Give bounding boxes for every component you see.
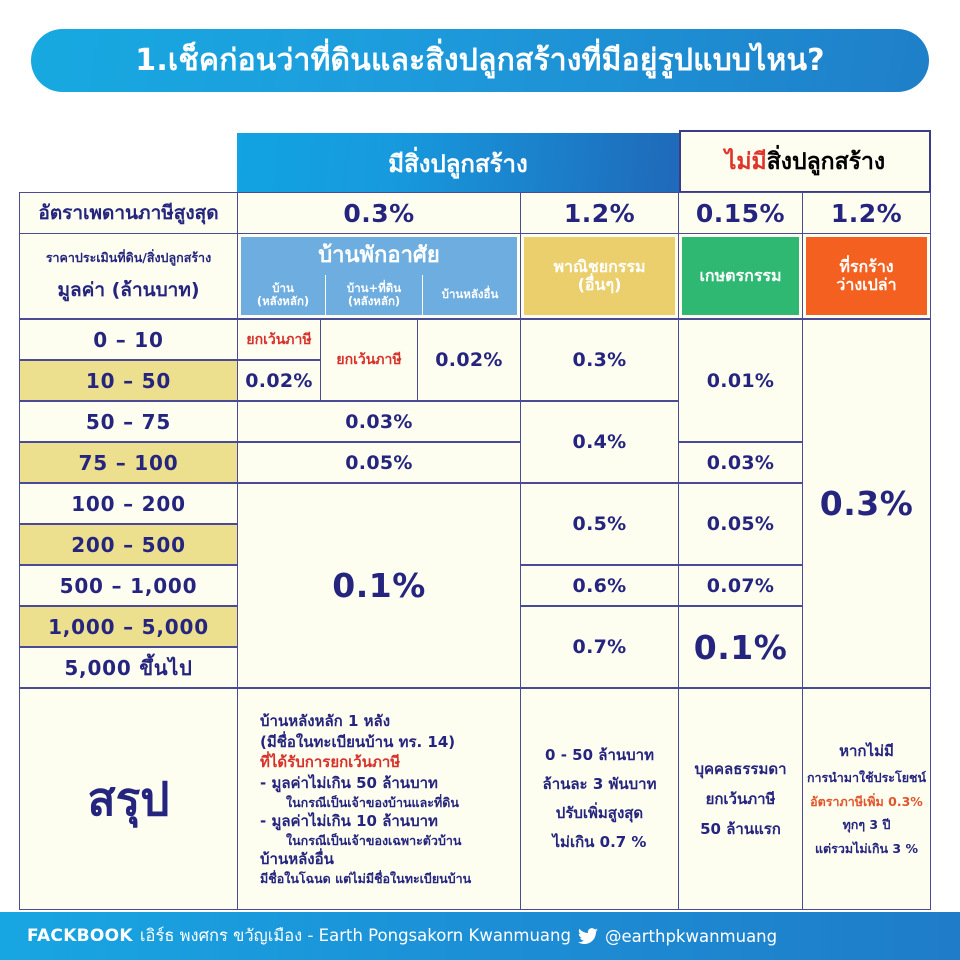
summary-res-line-0: บ้านหลังหลัก 1 หลัง (260, 711, 390, 732)
rate-residential-100-up: 0.1% (237, 483, 521, 688)
header-without-building-label: ไม่มีสิ่งปลูกสร้าง (725, 144, 885, 180)
residential-sub-house-main: บ้าน (หลังหลัก) (241, 275, 325, 315)
residential-header-cell: บ้านพักอาศัย บ้าน (หลังหลัก) บ้าน+ที่ดิน… (237, 233, 521, 319)
residential-sub-house-land-main: บ้าน+ที่ดิน (หลังหลัก) (325, 275, 422, 315)
summary-vacant-line-0: หากไม่มี (839, 737, 894, 766)
summary-residential-cell: บ้านหลังหลัก 1 หลัง (มีชื่อในทะเบียนบ้าน… (237, 688, 521, 910)
value-header-line1: ราคาประเมินที่ดิน/สิ่งปลูกสร้าง (46, 248, 211, 268)
rate-agriculture-0-75: 0.01% (678, 319, 803, 442)
value-header-cell: ราคาประเมินที่ดิน/สิ่งปลูกสร้าง มูลค่า (… (19, 233, 238, 319)
summary-res-line-3: - มูลค่าไม่เกิน 50 ล้านบาท (260, 773, 438, 794)
rate-commercial-0-50: 0.3% (520, 319, 679, 401)
header-with-building-label: มีสิ่งปลูกสร้าง (388, 144, 527, 183)
summary-res-line-8: มีชื่อในโฉนด แต่ไม่มีชื่อในทะเบียนบ้าน (260, 870, 471, 887)
twitter-bird-icon (578, 928, 598, 945)
summary-res-line-6: ในกรณีเป็นเจ้าของเฉพาะตัวบ้าน (260, 832, 461, 849)
summary-res-line-1: (มีชื่อในทะเบียนบ้าน ทร. 14) (260, 732, 455, 753)
rate-agriculture-75-100: 0.03% (678, 442, 803, 483)
summary-label: สรุป (88, 763, 170, 836)
ceiling-rate-vacant: 1.2% (802, 192, 931, 234)
range-row-7: 1,000 – 5,000 (19, 606, 238, 647)
header-with-building: มีสิ่งปลูกสร้าง (237, 133, 679, 193)
rate-commercial-1000-5000: 0.6% (520, 565, 679, 606)
summary-agri-line-1: ยกเว้นภาษี (706, 784, 776, 814)
author-name: เอิร์ธ พงศกร ขวัญเมือง - Earth Pongsakor… (140, 923, 571, 949)
vacant-header-label: ที่รกร้าง ว่างเปล่า (806, 237, 927, 315)
footer-credit-bar: FACKBOOK เอิร์ธ พงศกร ขวัญเมือง - Earth … (0, 912, 960, 960)
ceiling-rate-residential: 0.3% (237, 192, 521, 234)
summary-commercial-cell: 0 - 50 ล้านบาท ล้านละ 3 พันบาท ปรับเพิ่ม… (520, 688, 679, 910)
summary-agriculture-cell: บุคคลธรรมดา ยกเว้นภาษี 50 ล้านแรก (678, 688, 803, 910)
residential-sub-other-house: บ้านหลังอื่น (422, 275, 517, 315)
rate-vacant-all: 0.3% (802, 319, 931, 688)
summary-res-line-5: - มูลค่าไม่เกิน 10 ล้านบาท (260, 811, 438, 832)
commercial-header-label: พาณิชยกรรม (อื่นๆ) (524, 237, 675, 315)
ceiling-rate-label: อัตราเพดานภาษีสูงสุด (38, 198, 218, 228)
rate-other-house-0-50: 0.02% (417, 319, 521, 401)
range-row-1: 10 – 50 (19, 360, 238, 401)
summary-vacant-line-4: แต่รวมไม่เกิน 3 % (815, 837, 918, 861)
summary-res-line-4: ในกรณีเป็นเจ้าของบ้านและที่ดิน (260, 794, 459, 811)
rate-commercial-100-1000: 0.5% (520, 483, 679, 565)
ceiling-rate-agriculture: 0.15% (678, 192, 803, 234)
range-row-4: 100 – 200 (19, 483, 238, 524)
commercial-header-cell: พาณิชยกรรม (อื่นๆ) (520, 233, 679, 319)
twitter-handle: @earthpkwanmuang (605, 927, 777, 946)
rate-residential-75-100: 0.05% (237, 442, 521, 483)
header-without-prefix: ไม่มี (725, 149, 767, 175)
rate-commercial-5000-up: 0.7% (520, 606, 679, 688)
page-title-banner: 1.เช็คก่อนว่าที่ดินและสิ่งปลูกสร้างที่มี… (31, 29, 929, 92)
summary-com-line-3: ไม่เกิน 0.7 % (553, 828, 647, 857)
summary-vacant-line-3: ทุกๆ 3 ปี (843, 813, 891, 837)
rate-commercial-50-100: 0.4% (520, 401, 679, 483)
summary-com-line-1: ล้านละ 3 พันบาท (543, 770, 657, 799)
rate-residential-50-75: 0.03% (237, 401, 521, 442)
agriculture-header-label: เกษตรกรรม (682, 237, 799, 315)
summary-agri-line-2: 50 ล้านแรก (700, 814, 781, 844)
summary-vacant-line-2: อัตราภาษีเพิ่ม 0.3% (810, 790, 923, 814)
range-row-3: 75 – 100 (19, 442, 238, 483)
summary-res-line-2: ที่ได้รับการยกเว้นภาษี (260, 752, 400, 773)
page-title: 1.เช็คก่อนว่าที่ดินและสิ่งปลูกสร้างที่มี… (135, 46, 825, 76)
header-without-building: ไม่มีสิ่งปลูกสร้าง (679, 130, 931, 193)
summary-vacant-cell: หากไม่มี การนำมาใช้ประโยชน์ อัตราภาษีเพิ… (802, 688, 931, 910)
range-row-8: 5,000 ขึ้นไป (19, 647, 238, 688)
value-header-line2: มูลค่า (ล้านบาท) (57, 275, 199, 305)
summary-com-line-0: 0 - 50 ล้านบาท (545, 741, 654, 770)
rate-agriculture-500-1000: 0.07% (678, 565, 803, 606)
rate-house-main-10-50: 0.02% (237, 360, 321, 401)
summary-label-cell: สรุป (19, 688, 238, 910)
rate-agriculture-100-500: 0.05% (678, 483, 803, 565)
tax-rate-table: มีสิ่งปลูกสร้าง ไม่มีสิ่งปลูกสร้าง อัตรา… (17, 128, 933, 912)
range-row-2: 50 – 75 (19, 401, 238, 442)
summary-com-line-2: ปรับเพิ่มสูงสุด (556, 799, 643, 828)
summary-res-line-7: บ้านหลังอื่น (260, 849, 334, 870)
summary-agri-line-0: บุคคลธรรมดา (694, 754, 786, 784)
rate-house-main-0-10: ยกเว้นภาษี (237, 319, 321, 360)
range-row-6: 500 – 1,000 (19, 565, 238, 606)
header-without-rest: สิ่งปลูกสร้าง (767, 149, 885, 175)
ceiling-rate-label-cell: อัตราเพดานภาษีสูงสุด (19, 192, 238, 234)
ceiling-rate-commercial: 1.2% (520, 192, 679, 234)
agriculture-header-cell: เกษตรกรรม (678, 233, 803, 319)
range-row-0: 0 – 10 (19, 319, 238, 360)
summary-vacant-line-1: การนำมาใช้ประโยชน์ (807, 766, 926, 790)
facebook-brand-label: FACKBOOK (27, 926, 133, 946)
range-row-5: 200 – 500 (19, 524, 238, 565)
vacant-header-cell: ที่รกร้าง ว่างเปล่า (802, 233, 931, 319)
residential-header-label: บ้านพักอาศัย (241, 237, 517, 275)
rate-house-land-main-0-50: ยกเว้นภาษี (320, 319, 418, 401)
rate-agriculture-1000-up: 0.1% (678, 606, 803, 688)
